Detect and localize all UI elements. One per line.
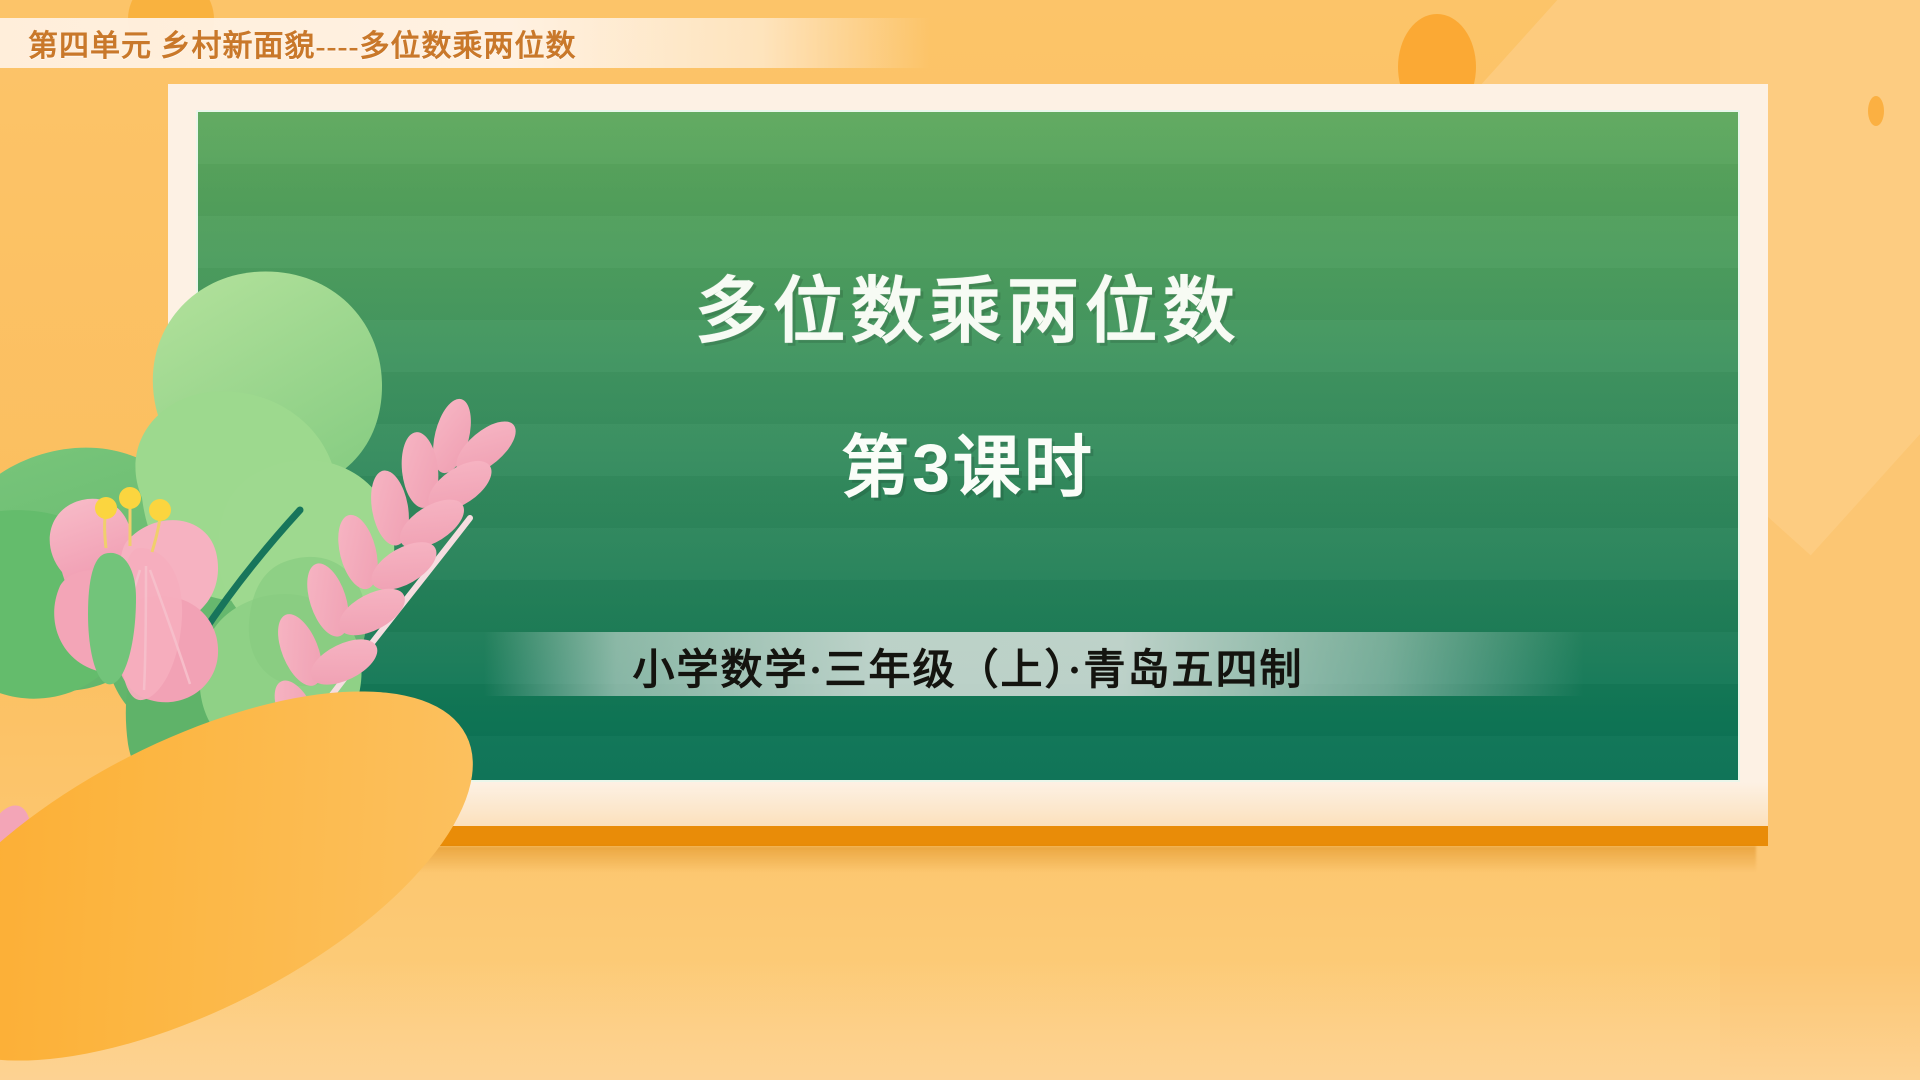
course-subtitle: 小学数学·三年级（上）·青岛五四制	[196, 628, 1740, 704]
orange-dot-right-margin-icon	[1868, 96, 1884, 126]
slide-canvas: 多位数乘两位数 第3课时 小学数学·三年级（上）·青岛五四制 第四单元 乡村新面…	[0, 0, 1920, 1080]
lesson-number: 第3课时	[196, 412, 1740, 511]
background-bottom-glow	[0, 960, 1920, 1080]
page-title: 多位数乘两位数	[196, 252, 1740, 357]
unit-banner-label: 第四单元 乡村新面貌----多位数乘两位数	[28, 18, 928, 68]
subtitle-block: 小学数学·三年级（上）·青岛五四制	[196, 628, 1740, 704]
